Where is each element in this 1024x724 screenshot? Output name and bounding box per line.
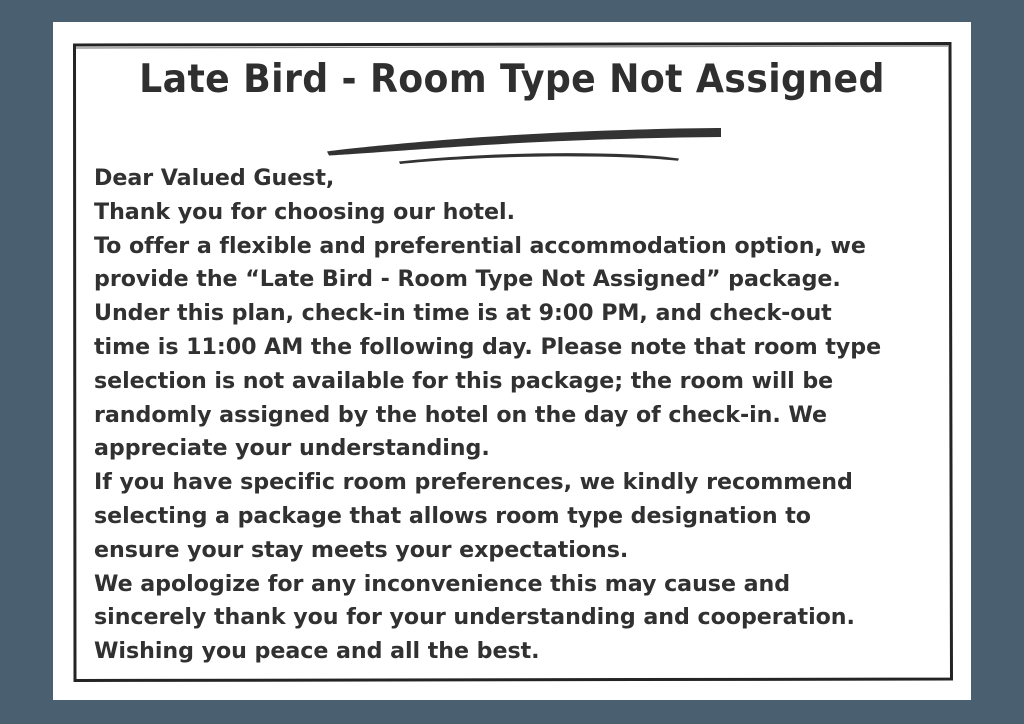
brush-underline-icon [323,118,743,164]
body-line: If you have specific room preferences, w… [94,466,941,500]
body-line: appreciate your understanding. [94,432,941,466]
body-line: selection is not available for this pack… [94,365,941,399]
body-line: Thank you for choosing our hotel. [94,196,941,230]
body-line: selecting a package that allows room typ… [94,500,941,534]
body-line: time is 11:00 AM the following day. Plea… [94,331,941,365]
body-line: provide the “Late Bird - Room Type Not A… [94,263,941,297]
poster-body-text: Dear Valued Guest, Thank you for choosin… [94,162,954,669]
page-title: Late Bird - Room Type Not Assigned [85,60,939,99]
body-line: randomly assigned by the hotel on the da… [94,399,941,433]
body-line: ensure your stay meets your expectations… [94,534,941,568]
body-line: Wishing you peace and all the best. [94,635,941,669]
body-line: Under this plan, check-in time is at 9:0… [94,297,941,331]
poster-outer-frame: Late Bird - Room Type Not Assigned Dear … [0,0,1024,724]
poster-content: Late Bird - Room Type Not Assigned Dear … [53,22,971,700]
poster-paper-card: Late Bird - Room Type Not Assigned Dear … [53,22,971,700]
body-line: We apologize for any inconvenience this … [94,568,941,602]
body-line: Dear Valued Guest, [94,162,941,196]
body-line: To offer a flexible and preferential acc… [94,230,941,264]
body-line: sincerely thank you for your understandi… [94,601,941,635]
